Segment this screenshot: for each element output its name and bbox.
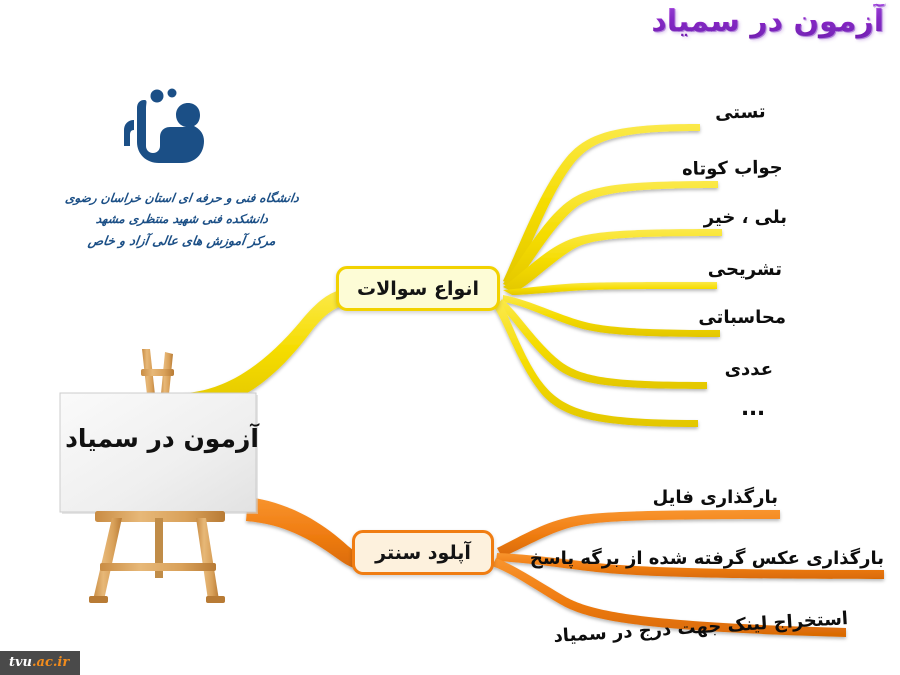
leaf-label-yellow-2[interactable]: جواب کوتاه <box>682 157 783 180</box>
leaf-label-yellow-7[interactable]: ... <box>741 396 765 421</box>
leaf-label-yellow-6[interactable]: عددی <box>725 359 773 380</box>
center-node-label: آزمون در سمیاد <box>62 424 262 453</box>
leaf-label-yellow-1[interactable]: تستی <box>715 101 766 124</box>
leaf-label-yellow-3[interactable]: بلی ، خیر <box>704 207 787 228</box>
leaf-label-orange-1[interactable]: بارگذاری فایل <box>653 487 778 508</box>
leaf-label-yellow-5[interactable]: محاسباتی <box>698 307 786 328</box>
mindmap-slide: آزمون در سمیاد دانشگاه فنی و حرفه ای است… <box>0 0 900 675</box>
leaf-label-orange-2[interactable]: بارگذاری عکس گرفته شده از برگه پاسخ <box>530 548 884 569</box>
watermark-name: tvu <box>9 655 32 670</box>
watermark-domain: .ac.ir <box>32 655 69 670</box>
branch-node-upload-center[interactable]: آپلود سنتر <box>352 530 494 575</box>
branch-node-question-types[interactable]: انواع سوالات <box>336 266 500 311</box>
trunk-orange <box>246 497 362 570</box>
leaf-label-yellow-4[interactable]: تشریحی <box>708 259 782 280</box>
watermark: tvu.ac.ir <box>0 651 80 675</box>
